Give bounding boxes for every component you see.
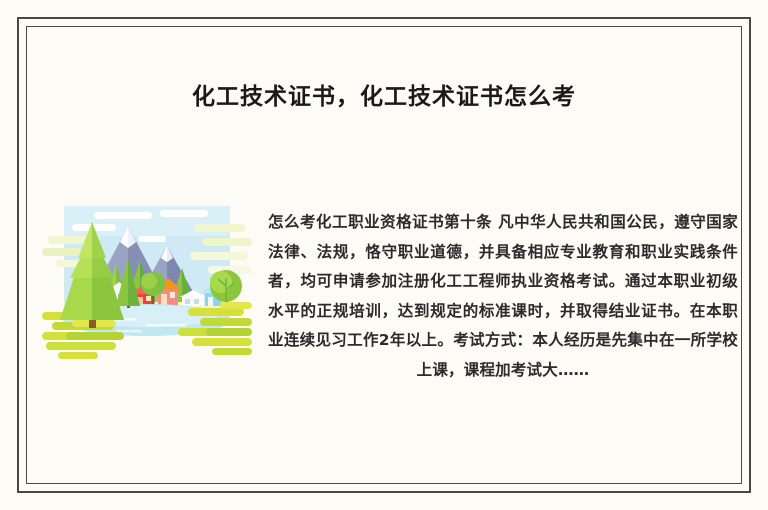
page-root: 化工技术证书，化工技术证书怎么考 [0, 0, 768, 510]
mountain-lake-village-illustration [42, 202, 252, 362]
page-title: 化工技术证书，化工技术证书怎么考 [0, 82, 768, 112]
illustration-svg [42, 202, 252, 362]
foreground-grass-right-group [178, 302, 252, 355]
article-body: 怎么考化工职业资格证书第十条 凡中华人民共和国公民，遵守国家法律、法规，恪守职业… [268, 208, 738, 385]
